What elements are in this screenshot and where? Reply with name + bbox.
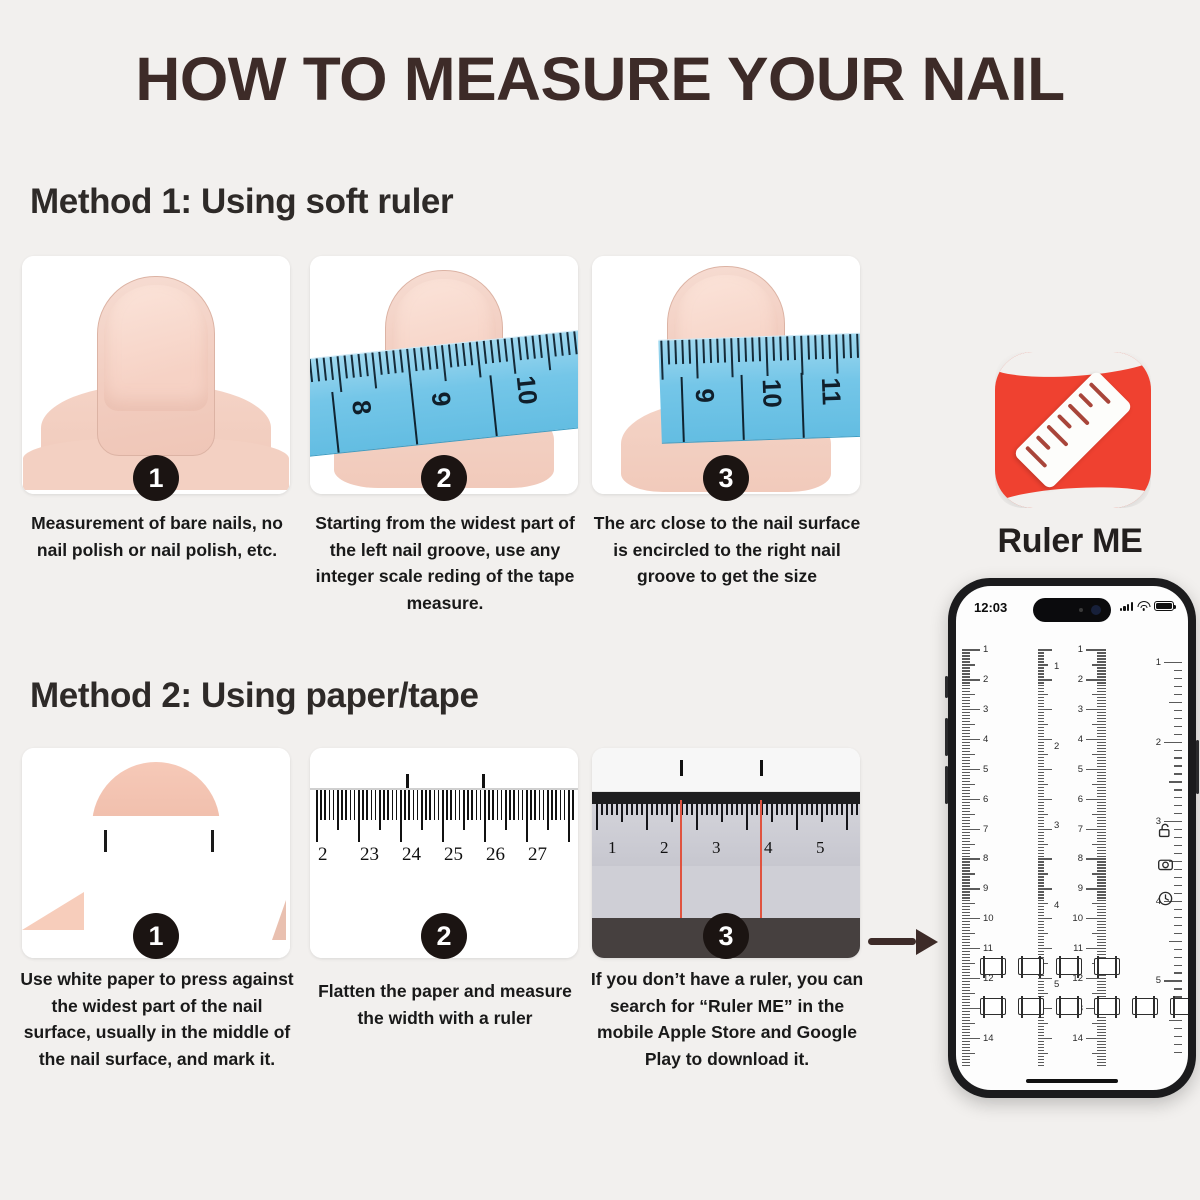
pen-mark-right (482, 774, 485, 788)
pen-mark-right (760, 760, 763, 776)
finger-shape (97, 276, 215, 456)
method1-caption-1: Measurement of bare nails, no nail polis… (16, 510, 298, 563)
ruler-number: 4 (983, 734, 988, 745)
power-button[interactable] (1196, 740, 1199, 794)
arrow-shaft (868, 938, 916, 945)
measure-marker[interactable] (1094, 998, 1120, 1015)
pen-mark-left (680, 760, 683, 776)
ruler-number: 2 (1156, 737, 1161, 748)
home-indicator[interactable] (1026, 1079, 1118, 1083)
ruler-number: 7 (1078, 824, 1083, 835)
paper-strip (592, 748, 860, 792)
ruler-number: 14 (1072, 1033, 1083, 1044)
nail-plate-shape (104, 285, 208, 411)
ruler-number: 14 (983, 1033, 994, 1044)
dynamic-island (1033, 598, 1111, 622)
tape-number: 9 (424, 391, 456, 409)
measure-marker[interactable] (1170, 998, 1188, 1015)
ruler-number: 5 (1054, 979, 1059, 990)
ruler-number: 2 (1054, 741, 1059, 752)
measure-line-right (760, 800, 762, 932)
measure-marker[interactable] (1132, 998, 1158, 1015)
pen-mark-left (406, 774, 409, 788)
battery-icon (1154, 601, 1174, 611)
tape-measure-blue: 91011 (658, 332, 860, 443)
ruler-number: 10 (983, 913, 994, 924)
on-screen-ruler-scale: 12345 (592, 804, 860, 866)
measure-marker[interactable] (1094, 958, 1120, 975)
phone-mockup: 12:03 1234567891011121314 12345678910111… (948, 578, 1196, 1098)
ruler-app-icon[interactable] (995, 352, 1151, 508)
ruler-number: 4 (764, 838, 773, 858)
arrow-right-icon (868, 928, 938, 954)
ruler-number: 5 (1078, 764, 1083, 775)
ruler-number: 3 (1078, 704, 1083, 715)
ruler-number: 26 (486, 844, 505, 866)
infographic-page: HOW TO MEASURE YOUR NAIL Method 1: Using… (0, 0, 1200, 1200)
measure-line-left (680, 800, 682, 932)
ruler-number: 4 (1078, 734, 1083, 745)
tape-number: 10 (756, 378, 788, 408)
method2-caption-2: Flatten the paper and measure the width … (304, 978, 586, 1031)
ruler-number: 9 (1078, 883, 1083, 894)
unlock-icon[interactable] (1157, 822, 1174, 839)
ruler-number: 24 (402, 844, 421, 866)
ruler-number: 1 (1156, 657, 1161, 668)
app-tool-icons (1157, 822, 1174, 907)
pen-mark-left (104, 830, 107, 852)
ruler-number: 8 (983, 853, 988, 864)
ruler-number: 1 (1054, 661, 1059, 672)
tape-number: 10 (510, 375, 544, 407)
method1-caption-2: Starting from the widest part of the lef… (304, 510, 586, 616)
ruler-number: 6 (983, 794, 988, 805)
tape-number: 11 (815, 377, 847, 406)
ruler-number: 5 (1156, 975, 1161, 986)
ruler-number: 27 (528, 844, 547, 866)
step-badge-1: 1 (133, 913, 179, 959)
measure-marker[interactable] (1056, 958, 1082, 975)
ruler-number: 5 (816, 838, 825, 858)
ruler-number: 25 (444, 844, 463, 866)
method2-caption-1: Use white paper to press against the wid… (16, 966, 298, 1072)
method-1-heading: Method 1: Using soft ruler (30, 182, 453, 222)
ruler-icon (1013, 370, 1133, 490)
step-badge-2: 2 (421, 913, 467, 959)
method1-caption-3: The arc close to the nail surface is enc… (586, 510, 868, 590)
ruler-number: 1 (1078, 644, 1083, 655)
ruler-number: 3 (1054, 820, 1059, 831)
icon-wave-bottom (995, 482, 1151, 508)
phone-screen: 12:03 1234567891011121314 12345678910111… (956, 586, 1188, 1090)
ruler-number: 1 (983, 644, 988, 655)
ruler-number: 8 (1078, 853, 1083, 864)
app-name-label: Ruler ME (940, 522, 1200, 561)
icon-wave-top (995, 352, 1151, 380)
step-badge-1: 1 (133, 455, 179, 501)
ruler-number: 10 (1072, 913, 1083, 924)
camera-icon[interactable] (1157, 856, 1174, 873)
step-badge-3: 3 (703, 913, 749, 959)
measure-marker[interactable] (980, 998, 1006, 1015)
measure-marker[interactable] (1018, 958, 1044, 975)
measure-marker[interactable] (1018, 998, 1044, 1015)
volume-up-button[interactable] (945, 718, 948, 756)
tape-number: 9 (689, 388, 720, 404)
volume-down-button[interactable] (945, 766, 948, 804)
measure-marker[interactable] (980, 958, 1006, 975)
step-badge-3: 3 (703, 455, 749, 501)
ruler-number: 3 (712, 838, 721, 858)
ruler-number: 4 (1054, 900, 1059, 911)
step-badge-2: 2 (421, 455, 467, 501)
ruler-number: 6 (1078, 794, 1083, 805)
wifi-icon (1137, 601, 1150, 611)
ruler-number: 3 (983, 704, 988, 715)
status-bar-time: 12:03 (974, 600, 1007, 615)
method2-caption-3: If you don’t have a ruler, you can searc… (586, 966, 868, 1072)
arrow-head (916, 929, 938, 955)
ruler-number: 2 (1078, 674, 1083, 685)
ruler-number: 1 (608, 838, 617, 858)
measure-marker[interactable] (1056, 998, 1082, 1015)
ruler-number: 11 (1073, 943, 1083, 954)
ruler-number: 2 (318, 844, 328, 866)
front-camera-icon (1091, 605, 1101, 615)
signal-icon (1120, 601, 1133, 611)
device-bezel (592, 792, 860, 804)
tape-tick-marks (658, 333, 860, 379)
pen-mark-right (211, 830, 214, 852)
ruler-number: 9 (983, 883, 988, 894)
ruler-number: 11 (983, 943, 993, 954)
ruler-number: 23 (360, 844, 379, 866)
ruler-number: 5 (983, 764, 988, 775)
silent-switch[interactable] (945, 676, 948, 698)
ruler-number: 7 (983, 824, 988, 835)
ruler-number: 2 (660, 838, 669, 858)
page-title: HOW TO MEASURE YOUR NAIL (0, 44, 1200, 114)
ruler-number: 2 (983, 674, 988, 685)
clock-icon[interactable] (1157, 890, 1174, 907)
method-2-heading: Method 2: Using paper/tape (30, 676, 479, 716)
sensor-dot (1079, 608, 1083, 612)
tape-number: 8 (345, 399, 377, 417)
status-bar-icons (1120, 601, 1174, 611)
